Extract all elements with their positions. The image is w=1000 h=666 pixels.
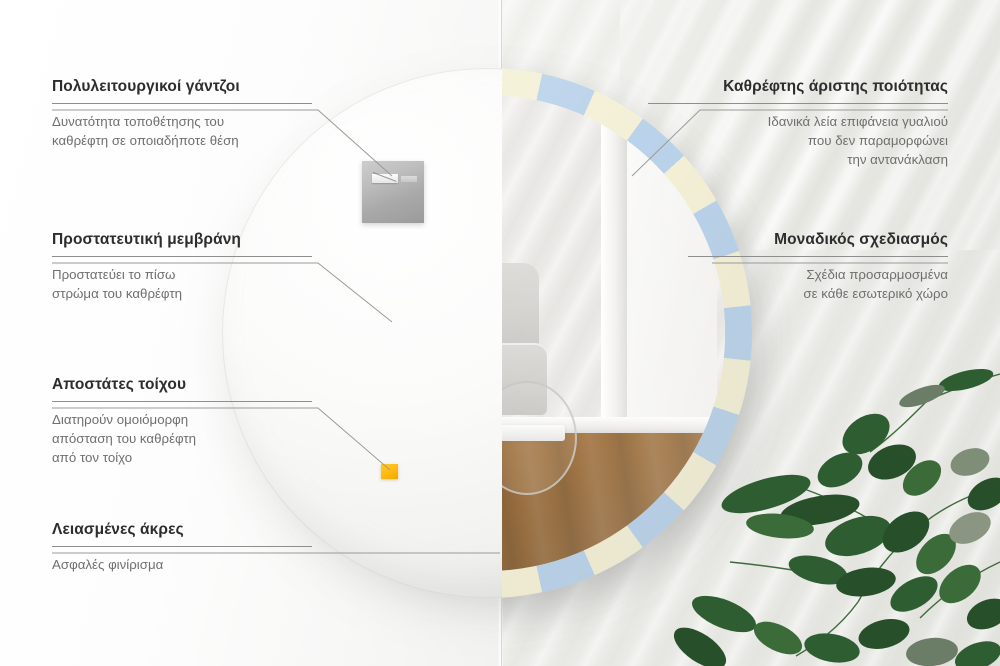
callout-rule [688, 256, 948, 257]
callout-top-quality-mirror: Καθρέφτης άριστης ποιότητας Ιδανικά λεία… [648, 78, 948, 170]
callout-title: Προστατευτική μεμβράνη [52, 231, 312, 249]
callout-rule [52, 546, 312, 547]
callout-body: Ιδανικά λεία επιφάνεια γυαλιού που δεν π… [648, 113, 948, 170]
bracket-keyhole-slot [372, 174, 398, 183]
callout-unique-design: Μοναδικός σχεδιασμός Σχέδια προσαρμοσμέν… [688, 231, 948, 304]
reflected-door-frame [601, 95, 627, 425]
callout-rule [648, 103, 948, 104]
callout-rule [52, 401, 312, 402]
callout-body: Προστατεύει το πίσω στρώμα του καθρέφτη [52, 266, 312, 304]
reflected-glass-side-table-top [502, 425, 565, 441]
callout-body: Σχέδια προσαρμοσμένα σε κάθε εσωτερικό χ… [688, 266, 948, 304]
callout-title: Πολυλειτουργικοί γάντζοι [52, 78, 312, 96]
callout-body: Δυνατότητα τοποθέτησης του καθρέφτη σε ο… [52, 113, 312, 151]
callout-title: Μοναδικός σχεδιασμός [688, 231, 948, 249]
bracket-secondary-slot [401, 176, 417, 182]
callout-smoothed-edges: Λειασμένες άκρες Ασφαλές φινίρισμα [52, 521, 312, 575]
callout-wall-spacers: Αποστάτες τοίχου Διατηρούν ομοιόμορφη απ… [52, 376, 312, 468]
callout-multifunction-hooks: Πολυλειτουργικοί γάντζοι Δυνατότητα τοπο… [52, 78, 312, 151]
callout-rule [52, 103, 312, 104]
callout-body: Ασφαλές φινίρισμα [52, 556, 312, 575]
wall-spacer-pad [381, 464, 398, 479]
callout-title: Καθρέφτης άριστης ποιότητας [648, 78, 948, 96]
reflected-sofa-backrest [502, 263, 539, 355]
hanging-bracket [362, 161, 424, 223]
callout-title: Λειασμένες άκρες [52, 521, 312, 539]
callout-rule [52, 256, 312, 257]
callout-protective-membrane: Προστατευτική μεμβράνη Προστατεύει το πί… [52, 231, 312, 304]
callout-title: Αποστάτες τοίχου [52, 376, 312, 394]
callout-body: Διατηρούν ομοιόμορφη απόσταση του καθρέφ… [52, 411, 312, 468]
infographic-canvas: Πολυλειτουργικοί γάντζοι Δυνατότητα τοπο… [0, 0, 1000, 666]
